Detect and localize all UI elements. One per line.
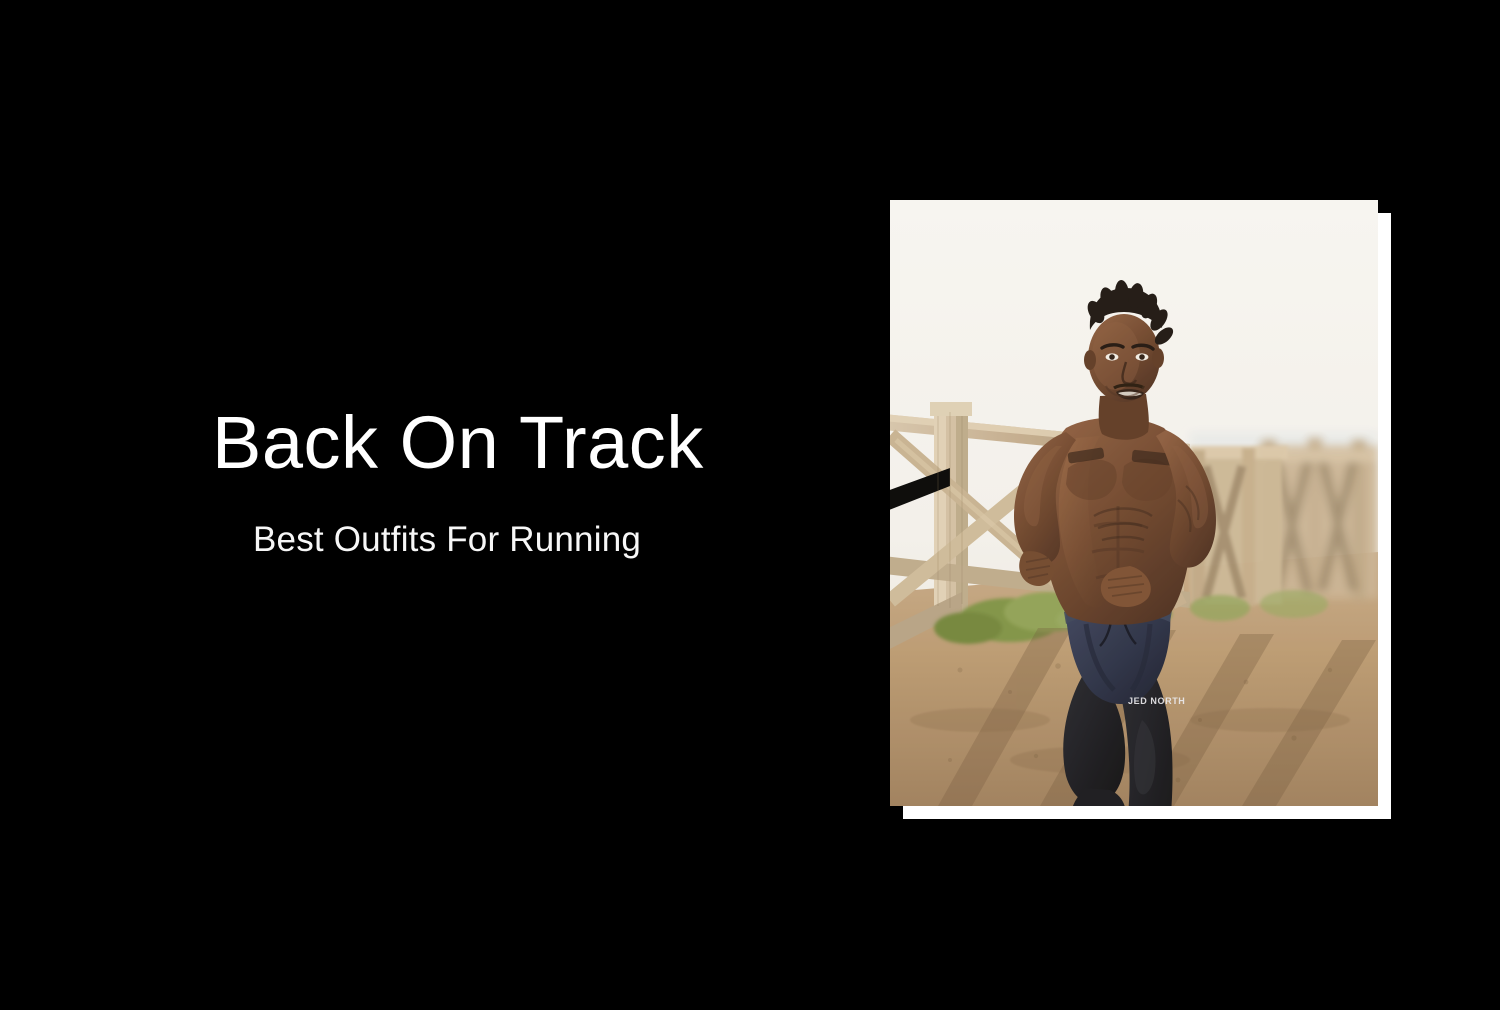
page-title: Back On Track [212, 406, 832, 480]
slide-canvas: Back On Track Best Outfits For Running [0, 0, 1500, 1010]
runner-photo: JED NORTH [890, 200, 1378, 806]
photo-card: JED NORTH [890, 200, 1378, 806]
runner-photo-illustration: JED NORTH [890, 200, 1378, 806]
page-subtitle: Best Outfits For Running [253, 522, 832, 557]
text-block: Back On Track Best Outfits For Running [212, 406, 832, 557]
